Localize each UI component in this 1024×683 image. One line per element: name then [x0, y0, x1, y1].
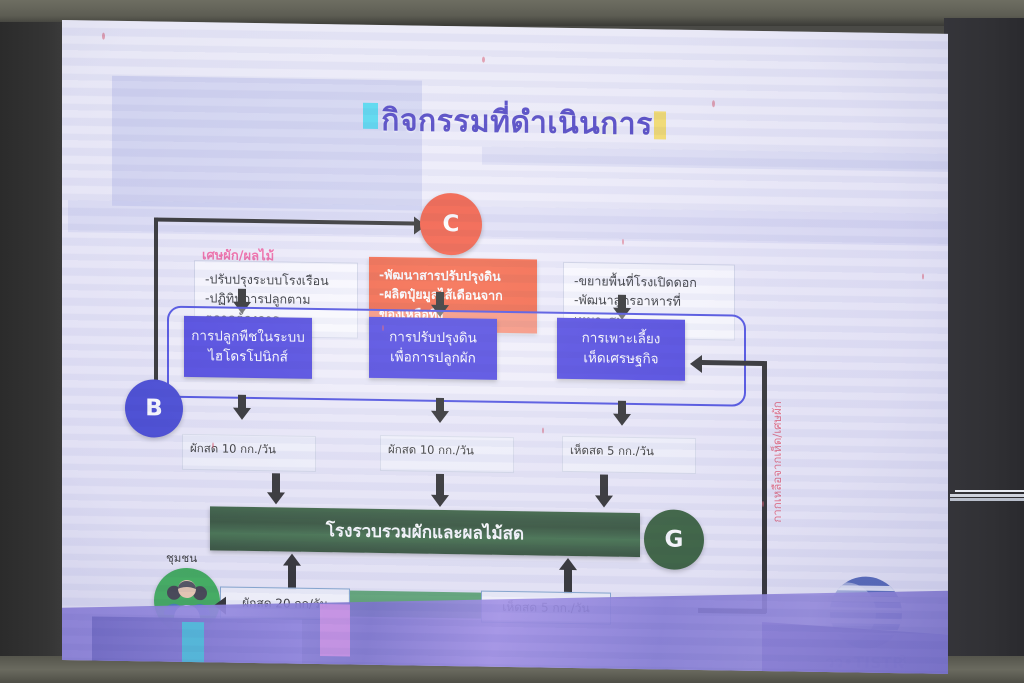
activity-line: การปรับปรุงดิน: [375, 327, 491, 349]
info-line: -ปรับปรุงระบบโรงเรือน: [205, 269, 347, 291]
projected-slide: กิจกรรมที่ดำเนินการ C เศษผัก/ผลไม้ -ปรับ…: [62, 20, 948, 674]
node-circle-c: C: [420, 193, 482, 256]
yield-label-mushroom: เห็ดสด 5 กก./วัน: [570, 442, 654, 461]
activity-box-hydroponics: การปลูกพืชในระบบ ไฮโดรโปนิกส์: [184, 316, 312, 379]
collect-arrow-mid-stem: [436, 474, 444, 496]
slide-title: กิจกรรมที่ดำเนินการ: [357, 97, 677, 149]
yield-arrow-right-head: [613, 414, 631, 426]
yield-arrow-left-stem: [238, 395, 246, 409]
dist-arrow-mush-stem: [564, 568, 572, 594]
flow-line-c-left: [154, 217, 158, 383]
activity-line: การเพาะเลี้ยง: [563, 328, 679, 350]
info-line: -ขยายพื้นที่โรงเปิดดอก: [574, 271, 724, 293]
yield-arrow-mid-head: [431, 411, 449, 423]
info-line: -พัฒนาสูตรอาหารที่: [574, 290, 724, 312]
node-circle-b: B: [125, 379, 183, 438]
info-line: -ผลิตปุ๋ยมูลไส้เดือนจาก: [379, 284, 527, 306]
activity-line: เห็ดเศรษฐกิจ: [563, 348, 679, 370]
activity-line: การปลูกพืชในระบบ: [190, 326, 306, 348]
yield-arrow-right-stem: [618, 401, 626, 415]
room-wall-right: [944, 18, 1024, 668]
collect-arrow-right-head: [595, 495, 613, 507]
label-community: ชุมชน: [166, 550, 197, 568]
activity-line: ไฮโดรโปนิกส์: [190, 346, 306, 368]
wall-trim-line-highlight: [955, 490, 1024, 492]
activity-line: เพื่อการปลูกผัก: [375, 347, 491, 369]
wall-trim-line: [950, 494, 1024, 497]
dist-arrow-mush-head: [559, 558, 577, 570]
return-loop-vertical: [762, 361, 767, 613]
activity-box-soil-improvement: การปรับปรุงดิน เพื่อการปลูกผัก: [369, 317, 497, 380]
collect-arrow-right-stem: [600, 474, 608, 496]
slide-content: กิจกรรมที่ดำเนินการ C เศษผัก/ผลไม้ -ปรับ…: [62, 20, 948, 674]
projector-glitch-band: [320, 604, 350, 656]
dist-arrow-veg-head: [283, 553, 301, 565]
collect-arrow-left-stem: [272, 473, 280, 493]
node-circle-g: G: [644, 509, 704, 570]
collect-arrow-mid-head: [431, 495, 449, 507]
flow-down-left-stem: [238, 289, 246, 303]
activity-box-mushroom: การเพาะเลี้ยง เห็ดเศรษฐกิจ: [557, 318, 685, 381]
return-loop-arrow-head: [690, 355, 702, 373]
label-return-material: กากเหลือจากเห็ด/เศษผัก: [768, 401, 786, 523]
room-wall-left: [0, 22, 66, 662]
dist-arrow-veg-stem: [288, 564, 296, 590]
yield-label-soil-veg: ผักสด 10 กก./วัน: [388, 441, 474, 460]
projection-screen: กิจกรรมที่ดำเนินการ C เศษผัก/ผลไม้ -ปรับ…: [62, 20, 948, 674]
yield-label-hydroponics: ผักสด 10 กก./วัน: [190, 440, 276, 459]
flow-down-right-stem: [618, 295, 626, 309]
yield-arrow-left-head: [233, 408, 251, 420]
screenshot-root: กิจกรรมที่ดำเนินการ C เศษผัก/ผลไม้ -ปรับ…: [0, 0, 1024, 683]
yield-arrow-mid-stem: [436, 398, 444, 412]
info-line: -พัฒนาสารปรับปรุงดิน: [379, 265, 527, 287]
collect-arrow-left-head: [267, 492, 285, 504]
flow-line-c-top: [154, 217, 422, 225]
collection-center-bar: โรงรวบรวมผักและผลไม้สด: [210, 506, 640, 557]
flow-down-mid-stem: [436, 292, 444, 306]
return-loop-top: [702, 360, 764, 366]
